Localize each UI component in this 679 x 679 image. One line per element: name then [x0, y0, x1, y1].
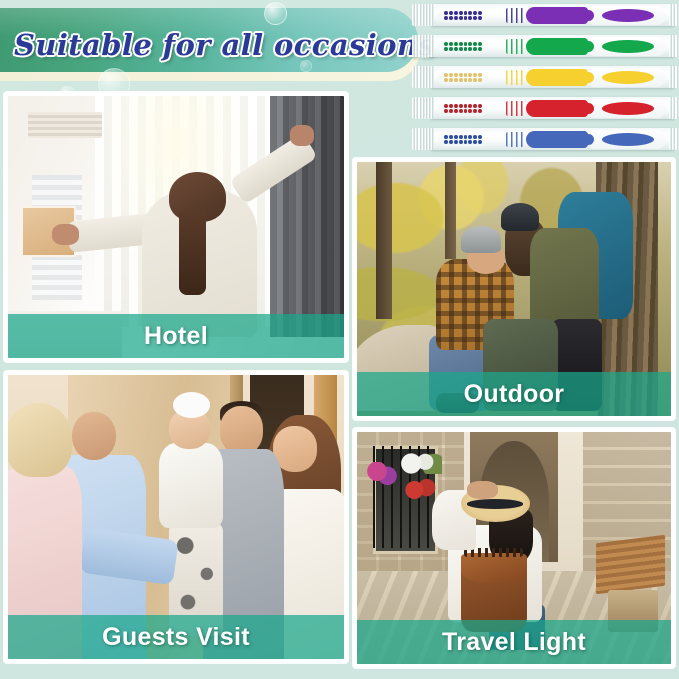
wrapper-crimp-left	[412, 4, 434, 26]
toothbrush-bristles	[444, 135, 482, 144]
caption-band-travel: Travel Light	[357, 620, 671, 664]
grandmother-hair	[8, 403, 72, 477]
wrapper-crimp-right	[669, 4, 679, 26]
caption-band-guests: Guests Visit	[8, 615, 344, 659]
caption-band-hotel: Hotel	[8, 314, 344, 358]
wrapper-crimp-left	[412, 128, 434, 150]
travel-white-flowers	[398, 453, 442, 474]
straw-hat-band	[467, 499, 524, 508]
traveler-hand	[467, 481, 498, 500]
mother-face	[273, 426, 317, 471]
toothbrush-thumb-pad	[602, 9, 654, 22]
travel-wooden-bench	[596, 534, 665, 594]
toothbrush-thumb-pad	[602, 71, 654, 84]
caption-band-outdoor: Outdoor	[357, 372, 671, 416]
toothbrush-thumb-pad	[602, 133, 654, 146]
wrapper-crimp-left	[412, 97, 434, 119]
photo-panel-guests: Guests Visit	[4, 371, 348, 663]
page-title: Suitable for all occasions	[14, 28, 435, 62]
toothbrush-red	[424, 93, 679, 123]
outdoor-tree-trunk-mid	[445, 162, 456, 259]
header-banner: Suitable for all occasions	[0, 8, 424, 82]
photo-panel-outdoor: Outdoor	[353, 158, 675, 420]
toothbrush-neck-grooves	[506, 132, 524, 147]
toothbrush-neck-grooves	[506, 8, 524, 23]
toothbrush-grip	[526, 100, 588, 117]
toothbrush-thumb-pad	[602, 40, 654, 53]
photo-inner: Guests Visit	[8, 375, 344, 659]
toothbrush-purple	[424, 0, 679, 30]
child-sweater	[159, 443, 223, 528]
toothbrush-grip	[526, 7, 588, 24]
backpack-flap	[461, 553, 527, 583]
toothbrush-neck-grooves	[506, 101, 524, 116]
toothbrush-neck-grooves	[506, 39, 524, 54]
toothbrush-grip	[526, 69, 588, 86]
father-face	[220, 406, 264, 454]
woman-ponytail	[179, 211, 206, 295]
woman-left-hand	[52, 224, 79, 245]
toothbrush-grip	[526, 131, 588, 148]
outdoor-tree-trunk-left	[376, 162, 392, 319]
toothbrush-yellow	[424, 62, 679, 92]
bubble-icon	[264, 2, 287, 25]
toothbrush-bristles	[444, 42, 482, 51]
infographic-root: Suitable for all occasions	[0, 0, 679, 679]
caption-label: Travel Light	[442, 628, 586, 657]
hiker-woman-beanie	[501, 203, 539, 231]
photo-panel-travel: Travel Light	[353, 428, 675, 668]
wrapper-crimp-right	[669, 66, 679, 88]
toothbrush-bristles	[444, 104, 482, 113]
wrapper-crimp-left	[412, 66, 434, 88]
toothbrush-green	[424, 31, 679, 61]
photo-inner: Travel Light	[357, 432, 671, 664]
caption-label: Outdoor	[464, 380, 565, 409]
hiker-man-beanie	[461, 226, 502, 254]
grandfather-face	[72, 412, 116, 460]
toothbrush-grip	[526, 38, 588, 55]
toothbrush-neck-grooves	[506, 70, 524, 85]
travel-red-flowers	[398, 478, 439, 501]
toothbrush-thumb-pad	[602, 102, 654, 115]
wrapper-crimp-right	[669, 97, 679, 119]
toothbrush-bristles	[444, 11, 482, 20]
travel-pink-flowers	[363, 462, 398, 485]
wrapper-crimp-left	[412, 35, 434, 57]
photo-inner: Hotel	[8, 96, 344, 358]
hotel-blind	[28, 112, 102, 138]
woman-right-hand	[290, 125, 314, 146]
wrapper-crimp-right	[669, 35, 679, 57]
child-hair-bow	[173, 392, 210, 418]
caption-label: Hotel	[144, 322, 208, 351]
toothbrush-blue	[424, 124, 679, 154]
toothbrush-stack	[424, 0, 679, 160]
photo-panel-hotel: Hotel	[4, 92, 348, 362]
photo-inner: Outdoor	[357, 162, 671, 416]
caption-label: Guests Visit	[102, 623, 250, 652]
bubble-icon	[300, 60, 312, 72]
wrapper-crimp-right	[669, 128, 679, 150]
toothbrush-bristles	[444, 73, 482, 82]
